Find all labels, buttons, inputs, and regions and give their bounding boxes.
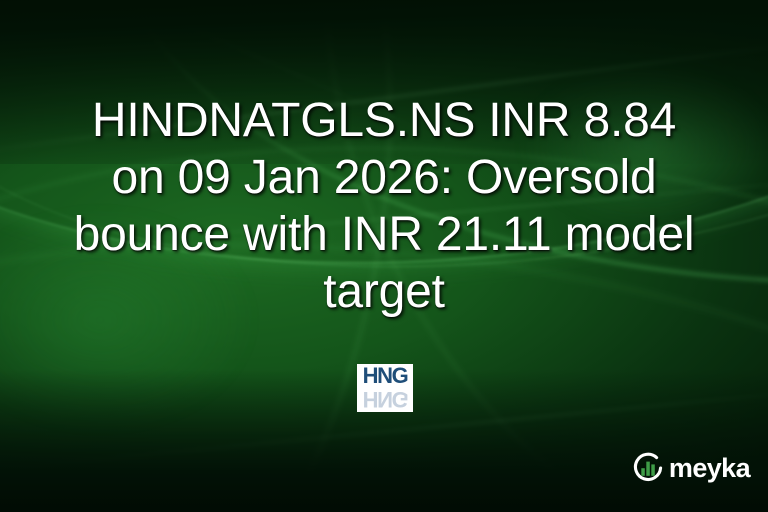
page-title: HINDNATGLS.NS INR 8.84 on 09 Jan 2026: O… <box>0 92 768 320</box>
article-cover-card: HINDNATGLS.NS INR 8.84 on 09 Jan 2026: O… <box>0 0 768 512</box>
company-logo-text: HNG <box>357 365 413 387</box>
company-logo: HNG HNG <box>357 364 413 412</box>
meyka-logo-icon <box>630 450 666 486</box>
brand-name: meyka <box>669 455 750 482</box>
company-logo-reflection: HNG <box>357 388 413 410</box>
brand-lockup: meyka <box>630 450 750 486</box>
